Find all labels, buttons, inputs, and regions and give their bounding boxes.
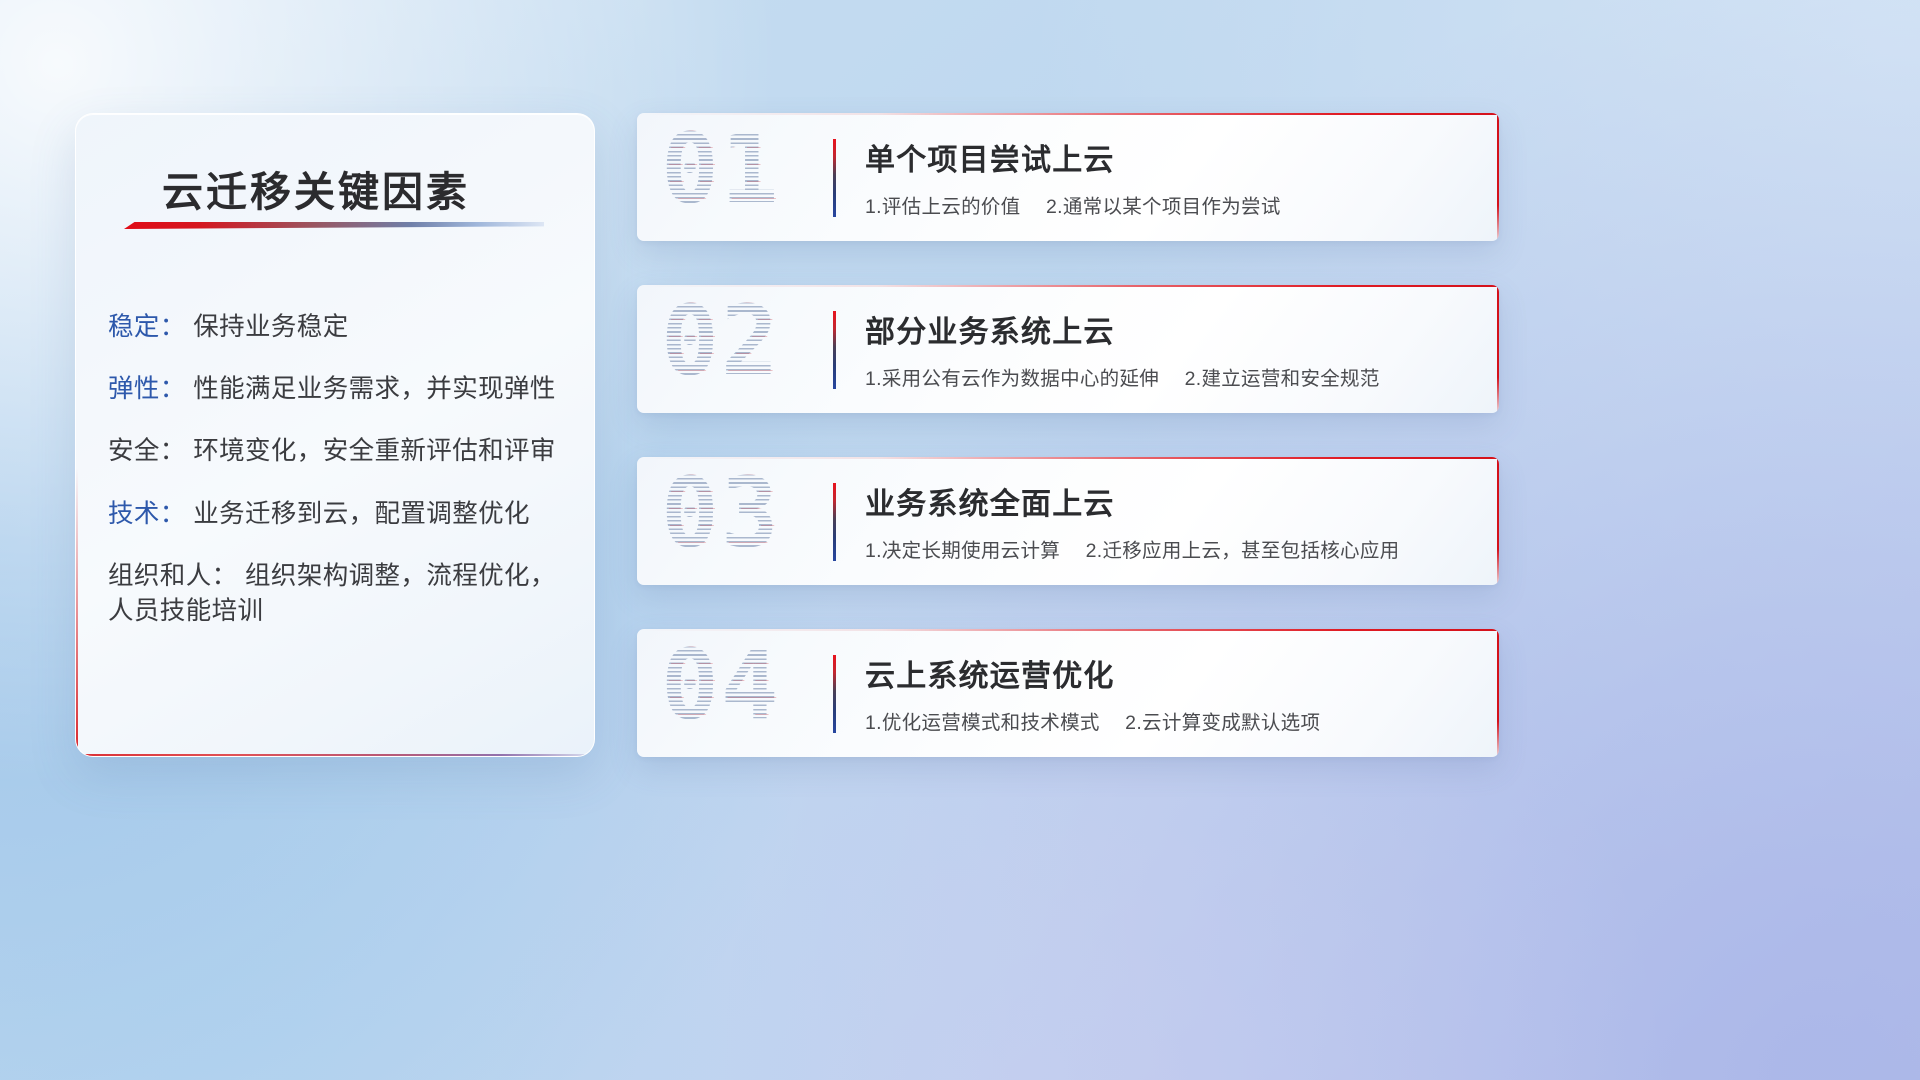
key-factor-text: 保持业务稳定 — [193, 313, 348, 341]
key-factor-label: 弹性： — [108, 375, 186, 403]
stage-description: 1.优化运营模式和技术模式 2.云计算变成默认选项 — [865, 706, 1320, 735]
stage-number-ghost: 04 — [663, 637, 783, 741]
key-factor-item: 稳定： 保持业务稳定 — [108, 310, 568, 345]
key-factor-text: 性能满足业务需求，并实现弹性 — [193, 375, 556, 403]
stage-number: 01 — [661, 121, 781, 225]
stage-number: 02 — [661, 293, 781, 397]
stage-number-watermark: 0303 — [661, 465, 833, 577]
stage-title: 业务系统全面上云 — [865, 479, 1115, 523]
stage-divider-bar — [833, 655, 836, 733]
key-factor-label: 安全： — [108, 437, 186, 465]
stage-title: 单个项目尝试上云 — [865, 135, 1115, 179]
stage-number-ghost: 03 — [663, 465, 783, 569]
stage-description: 1.采用公有云作为数据中心的延伸 2.建立运营和安全规范 — [865, 362, 1380, 391]
stage-card[interactable]: 0202部分业务系统上云1.采用公有云作为数据中心的延伸 2.建立运营和安全规范 — [637, 285, 1499, 413]
key-factor-item: 组织和人： 组织架构调整，流程优化，人员技能培训 — [108, 559, 568, 629]
stage-card[interactable]: 0101单个项目尝试上云1.评估上云的价值 2.通常以某个项目作为尝试 — [637, 113, 1499, 241]
key-factor-label: 稳定： — [108, 313, 186, 341]
key-factor-text: 业务迁移到云，配置调整优化 — [193, 500, 530, 528]
key-factors-panel: 云迁移关键因素 稳定： 保持业务稳定弹性： 性能满足业务需求，并实现弹性安全： … — [75, 113, 595, 757]
stage-description: 1.评估上云的价值 2.通常以某个项目作为尝试 — [865, 190, 1281, 219]
stage-number-watermark: 0202 — [661, 293, 833, 405]
page-title: 云迁移关键因素 — [162, 158, 470, 218]
title-underline-rule — [124, 222, 544, 229]
stage-divider-bar — [833, 139, 836, 217]
key-factor-item: 弹性： 性能满足业务需求，并实现弹性 — [108, 372, 568, 407]
stage-number: 03 — [661, 465, 781, 569]
stage-card[interactable]: 0303业务系统全面上云1.决定长期使用云计算 2.迁移应用上云，甚至包括核心应… — [637, 457, 1499, 585]
key-factors-list: 稳定： 保持业务稳定弹性： 性能满足业务需求，并实现弹性安全： 环境变化，安全重… — [108, 310, 568, 656]
key-factor-item: 安全： 环境变化，安全重新评估和评审 — [108, 434, 568, 469]
stage-number: 04 — [661, 637, 781, 741]
key-factor-text: 环境变化，安全重新评估和评审 — [193, 437, 556, 465]
stage-number-watermark: 0101 — [661, 121, 833, 233]
key-factor-label: 技术： — [108, 500, 186, 528]
stage-divider-bar — [833, 311, 836, 389]
stage-title: 云上系统运营优化 — [865, 651, 1115, 695]
slide-canvas: 云迁移关键因素 稳定： 保持业务稳定弹性： 性能满足业务需求，并实现弹性安全： … — [0, 0, 1920, 1080]
stage-card[interactable]: 0404云上系统运营优化1.优化运营模式和技术模式 2.云计算变成默认选项 — [637, 629, 1499, 757]
stage-number-watermark: 0404 — [661, 637, 833, 749]
stage-divider-bar — [833, 483, 836, 561]
key-factor-item: 技术： 业务迁移到云，配置调整优化 — [108, 497, 568, 532]
stage-description: 1.决定长期使用云计算 2.迁移应用上云，甚至包括核心应用 — [865, 534, 1399, 563]
key-factor-label: 组织和人： — [108, 562, 238, 590]
stage-number-ghost: 01 — [663, 121, 783, 225]
stage-number-ghost: 02 — [663, 293, 783, 397]
stage-title: 部分业务系统上云 — [865, 307, 1115, 351]
